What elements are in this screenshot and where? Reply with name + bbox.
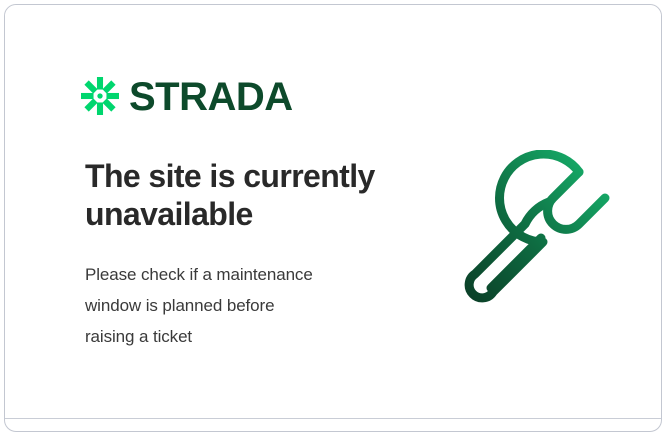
app-shell: STRADA The site is currently unavailable…: [4, 4, 662, 432]
brand-lockup: STRADA: [81, 73, 293, 119]
wrench-icon: [457, 150, 627, 320]
brand-wordmark: STRADA: [129, 77, 293, 117]
status-card: STRADA The site is currently unavailable…: [5, 5, 661, 419]
status-description-line-3: raising a ticket: [85, 327, 192, 346]
status-description: Please check if a maintenance window is …: [85, 259, 385, 352]
status-description-line-2: window is planned before: [85, 296, 274, 315]
page-title: The site is currently unavailable: [85, 157, 425, 233]
message-block: The site is currently unavailable Please…: [85, 157, 425, 352]
status-description-line-1: Please check if a maintenance: [85, 265, 313, 284]
asterisk-star-icon: [81, 77, 119, 115]
